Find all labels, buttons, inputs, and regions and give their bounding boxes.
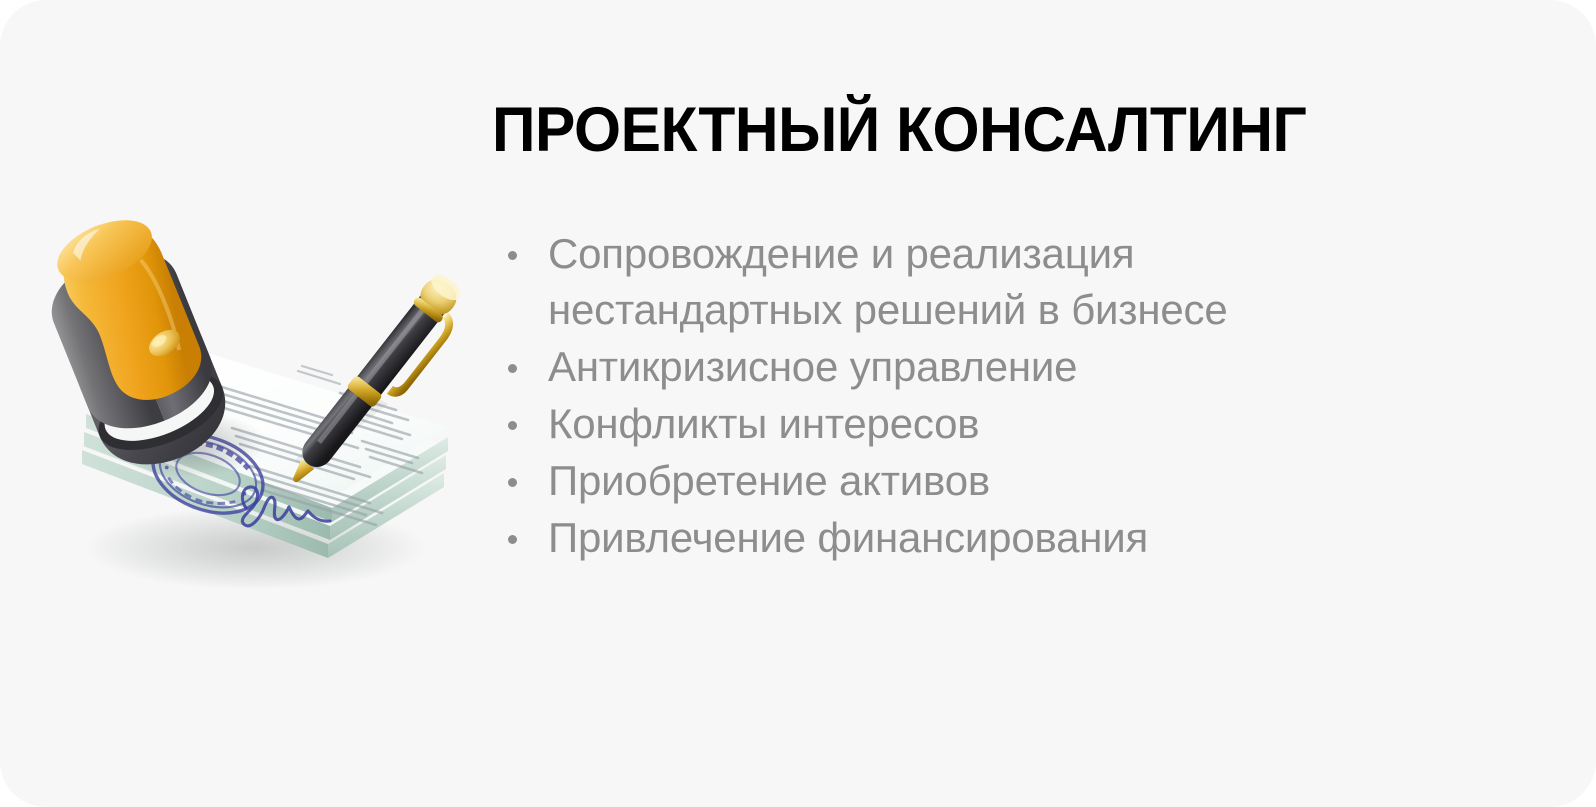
bullet-dot-icon	[508, 251, 517, 260]
list-item-label: Сопровождение и реализация нестандартных…	[548, 226, 1420, 338]
content-column: ПРОЕКТНЫЙ КОНСАЛТИНГ Сопровождение и реа…	[492, 96, 1492, 164]
list-item-label: Конфликты интересов	[548, 396, 1420, 452]
bullet-dot-icon	[508, 421, 517, 430]
slide-card: ПРОЕКТНЫЙ КОНСАЛТИНГ Сопровождение и реа…	[0, 0, 1596, 807]
list-item: Антикризисное управление	[500, 339, 1420, 395]
list-item: Привлечение финансирования	[500, 510, 1420, 566]
bullet-dot-icon	[508, 364, 517, 373]
bullet-dot-icon	[508, 535, 517, 544]
list-item-label: Привлечение финансирования	[548, 510, 1420, 566]
list-item-label: Приобретение активов	[548, 453, 1420, 509]
bullet-dot-icon	[508, 478, 517, 487]
list-item: Приобретение активов	[500, 453, 1420, 509]
list-item: Конфликты интересов	[500, 396, 1420, 452]
service-bullet-list: Сопровождение и реализация нестандартных…	[500, 226, 1420, 567]
list-item: Сопровождение и реализация нестандартных…	[500, 226, 1420, 338]
list-item-label: Антикризисное управление	[548, 339, 1420, 395]
document-stamp-pen-illustration	[40, 188, 460, 588]
page-title: ПРОЕКТНЫЙ КОНСАЛТИНГ	[492, 96, 1452, 164]
